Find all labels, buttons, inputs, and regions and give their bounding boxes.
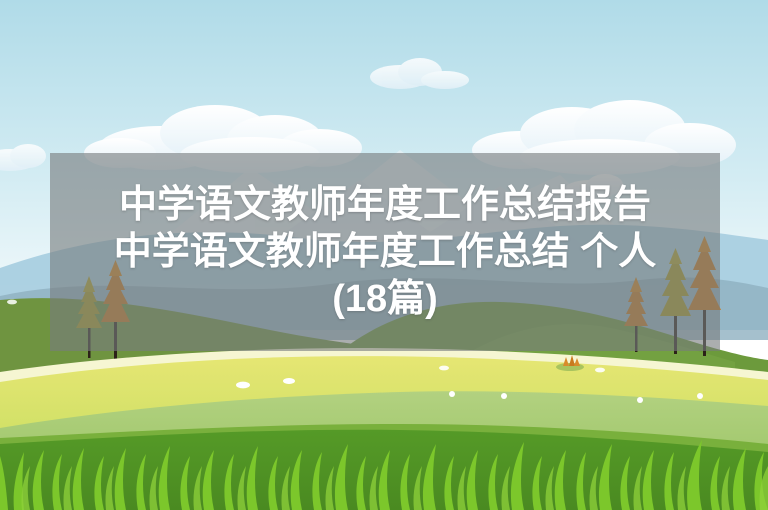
flower: [637, 397, 643, 403]
flower: [7, 300, 17, 305]
overlay-title-line-3: (18篇): [50, 276, 720, 323]
flower: [697, 393, 703, 399]
overlay-title-line-2: 中学语文教师年度工作总结 个人: [50, 229, 720, 276]
overlay-title-line-1: 中学语文教师年度工作总结报告: [50, 182, 720, 229]
flower: [501, 393, 507, 399]
flower: [595, 368, 605, 373]
flower: [449, 391, 455, 397]
flower: [236, 382, 250, 389]
landscape-banner: 中学语文教师年度工作总结报告 中学语文教师年度工作总结 个人 (18篇): [0, 0, 768, 510]
caption-overlay-panel: 中学语文教师年度工作总结报告 中学语文教师年度工作总结 个人 (18篇): [50, 153, 720, 351]
flower: [283, 378, 295, 384]
flower: [439, 366, 449, 371]
